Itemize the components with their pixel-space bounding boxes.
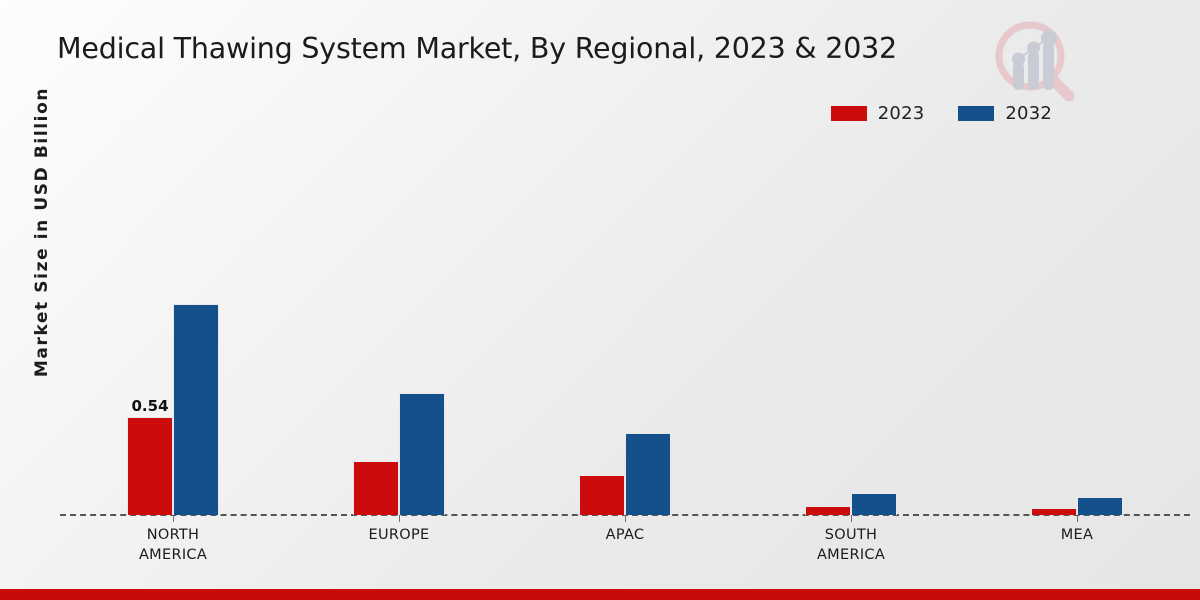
bar-2023-europe[interactable] — [353, 461, 399, 515]
legend-label-2023: 2023 — [878, 103, 925, 124]
x-label-line-1: MEA — [1061, 525, 1094, 545]
bar-groups: 0.54 NORTH AMERICA EUROPE — [60, 150, 1190, 515]
bottom-accent-strip — [0, 589, 1200, 600]
x-label-line-1: EUROPE — [369, 525, 430, 545]
bars-europe — [353, 150, 445, 515]
legend-swatch-2023-icon — [831, 106, 867, 121]
x-label-line-1: APAC — [606, 525, 645, 545]
legend-swatch-2032-icon — [958, 106, 994, 121]
chart-canvas: Medical Thawing System Market, By Region… — [0, 0, 1200, 600]
bar-2023-mea[interactable] — [1031, 508, 1077, 515]
x-tick-north-america — [173, 515, 174, 522]
legend-label-2032: 2032 — [1005, 103, 1052, 124]
x-label-north-america: NORTH AMERICA — [139, 525, 207, 565]
x-tick-south-america — [851, 515, 852, 522]
bar-2023-south-america[interactable] — [805, 506, 851, 515]
x-tick-mea — [1077, 515, 1078, 522]
plot-area: 0.54 NORTH AMERICA EUROPE — [60, 150, 1190, 515]
watermark-logo-icon — [985, 14, 1081, 106]
x-label-line-2: AMERICA — [139, 545, 207, 565]
bar-2023-north-america[interactable]: 0.54 — [127, 417, 173, 515]
bar-2032-north-america[interactable] — [173, 304, 219, 515]
bar-group-apac: APAC — [512, 150, 738, 515]
x-label-europe: EUROPE — [369, 525, 430, 545]
x-label-line-1: NORTH — [139, 525, 207, 545]
x-label-line-2: AMERICA — [817, 545, 885, 565]
x-label-south-america: SOUTH AMERICA — [817, 525, 885, 565]
bar-2032-mea[interactable] — [1077, 497, 1123, 515]
bar-value-2023-north-america: 0.54 — [131, 397, 168, 415]
legend-item-2023[interactable]: 2023 — [831, 103, 925, 124]
bar-2032-south-america[interactable] — [851, 493, 897, 515]
bar-group-south-america: SOUTH AMERICA — [738, 150, 964, 515]
chart-legend: 2023 2032 — [831, 103, 1052, 124]
x-tick-europe — [399, 515, 400, 522]
bars-north-america: 0.54 — [127, 150, 219, 515]
bar-2032-europe[interactable] — [399, 393, 445, 515]
bar-group-north-america: 0.54 NORTH AMERICA — [60, 150, 286, 515]
x-label-apac: APAC — [606, 525, 645, 545]
bars-mea — [1031, 150, 1123, 515]
x-tick-apac — [625, 515, 626, 522]
bar-2032-apac[interactable] — [625, 433, 671, 515]
bar-2023-apac[interactable] — [579, 475, 625, 515]
chart-title: Medical Thawing System Market, By Region… — [57, 32, 897, 65]
x-label-line-1: SOUTH — [817, 525, 885, 545]
bars-apac — [579, 150, 671, 515]
x-label-mea: MEA — [1061, 525, 1094, 545]
legend-item-2032[interactable]: 2032 — [958, 103, 1052, 124]
bars-south-america — [805, 150, 897, 515]
bar-group-mea: MEA — [964, 150, 1190, 515]
bar-group-europe: EUROPE — [286, 150, 512, 515]
y-axis-title: Market Size in USD Billion — [32, 82, 52, 382]
